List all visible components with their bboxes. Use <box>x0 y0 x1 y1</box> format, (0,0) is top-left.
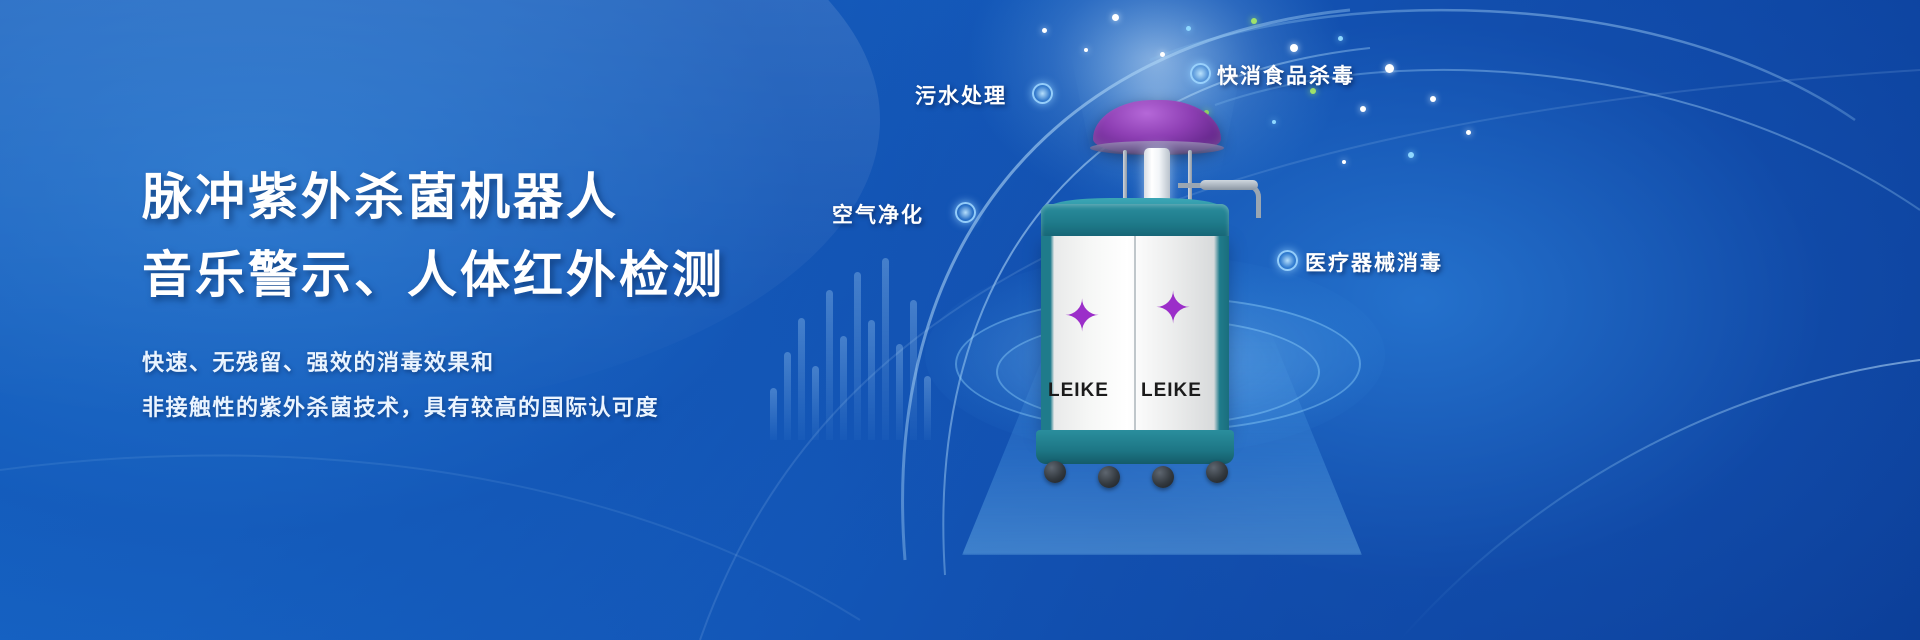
subcopy-line-1: 快速、无残留、强效的消毒效果和 <box>142 340 902 385</box>
hero-banner: 脉冲紫外杀菌机器人 音乐警示、人体红外检测 快速、无残留、强效的消毒效果和 非接… <box>0 0 1920 640</box>
caster-wheel <box>1098 466 1120 488</box>
feature-dot-air-purify <box>955 202 976 223</box>
cabinet-door-divider <box>1134 236 1136 434</box>
brand-label-left: LEIKE <box>1048 380 1109 402</box>
headline-line-1: 脉冲紫外杀菌机器人 <box>142 158 902 236</box>
headline-line-2: 音乐警示、人体红外检测 <box>142 236 902 314</box>
feature-dot-medical <box>1277 250 1298 271</box>
feature-label-medical: 医疗器械消毒 <box>1305 247 1443 277</box>
caster-wheel <box>1044 461 1066 483</box>
feature-label-waste-water: 污水处理 <box>915 80 1007 110</box>
brand-label-right: LEIKE <box>1141 380 1202 402</box>
subcopy-line-2: 非接触性的紫外杀菌技术，具有较高的国际认可度 <box>142 385 902 430</box>
hero-text-block: 脉冲紫外杀菌机器人 音乐警示、人体红外检测 快速、无残留、强效的消毒效果和 非接… <box>142 158 902 430</box>
caster-wheel <box>1206 461 1228 483</box>
feature-dot-food-safety <box>1190 63 1211 84</box>
cabinet-top <box>1041 204 1229 238</box>
feature-label-air-purify: 空气净化 <box>832 199 924 229</box>
cabinet-base <box>1036 430 1234 464</box>
cart-handle-grip <box>1200 180 1258 190</box>
feature-dot-waste-water <box>1032 83 1053 104</box>
caster-wheel <box>1152 466 1174 488</box>
sparkle-icon-right: ✦ <box>1152 288 1194 330</box>
feature-label-food-safety: 快消食品杀毒 <box>1217 60 1355 90</box>
sparkle-icon-left: ✦ <box>1061 296 1103 338</box>
